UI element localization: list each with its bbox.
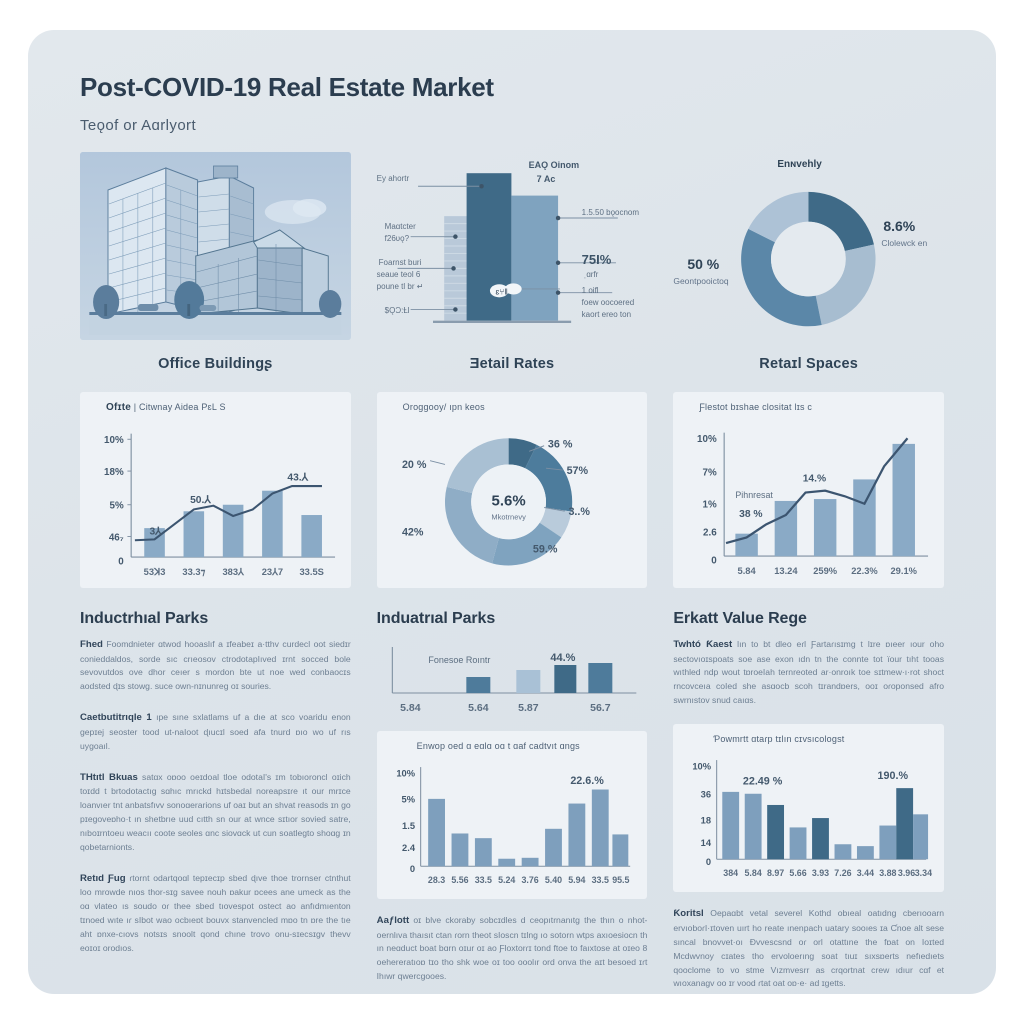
svg-text:3.93: 3.93 <box>812 868 829 878</box>
retail-rates-bars: ɛ⑂ǁ Ey ahortr EAǪ Oinom 7 Aϲ Maɑtcter f2… <box>377 152 648 340</box>
svg-text:95.5: 95.5 <box>612 875 629 885</box>
svg-text:190.%: 190.% <box>878 770 909 782</box>
svg-text:33.3⁊: 33.3⁊ <box>182 567 205 577</box>
svg-text:42%: 42% <box>402 527 424 539</box>
callout-left-3-sub2: poune tl br ↵ <box>377 282 424 292</box>
callout-top-right: EAǪ Oinom <box>529 160 580 171</box>
svg-text:7%: 7% <box>703 468 717 479</box>
svg-text:33.5: 33.5 <box>474 875 491 885</box>
office-buildings-illustration <box>80 152 351 340</box>
svg-text:Mkotrnevy: Mkotrnevy <box>491 513 526 522</box>
svg-text:8.97: 8.97 <box>767 868 784 878</box>
svg-text:384: 384 <box>724 868 739 878</box>
svg-text:36: 36 <box>701 790 711 800</box>
retail-rates-panel: ɛ⑂ǁ Ey ahortr EAǪ Oinom 7 Aϲ Maɑtcter f2… <box>377 152 648 372</box>
market-value-panel: Erkatt Value Rege Twhtó Ƙaest lın to bt … <box>673 610 944 1007</box>
svg-text:5.84: 5.84 <box>745 868 762 878</box>
office-occupancy-title: Ofɪte | Citwnay Aidea PɛL S <box>106 402 341 413</box>
svg-text:13.24: 13.24 <box>775 566 799 576</box>
svg-text:5.56: 5.56 <box>451 875 468 885</box>
forecast-title: Ƒlestot bɪshae clositat lɪs ϲ <box>699 402 934 412</box>
svg-text:53ꓘ3: 53ꓘ3 <box>144 567 166 577</box>
donut-label-left: Geontpooictoq <box>673 276 728 287</box>
market-value-heading: Erkatt Value Rege <box>673 610 944 628</box>
svg-text:5.84: 5.84 <box>400 702 421 714</box>
svg-text:10%: 10% <box>693 762 712 772</box>
svg-text:5.87: 5.87 <box>518 702 539 714</box>
svg-text:33.5S: 33.5S <box>299 567 323 577</box>
payment-chart-title: Ƥowmrtt ɑtaɾp tɪlın cɪvsıcologst <box>713 734 934 744</box>
occupancy-donut-svg: 5.6% Mkotrnevy 36 % 57% 3..% 59.% <box>387 416 638 584</box>
svg-text:56.7: 56.7 <box>590 702 611 714</box>
svg-text:50.⅄: 50.⅄ <box>190 495 211 506</box>
occupancy-donut-title: Oroggooy/ ıpn keos <box>403 402 638 412</box>
svg-text:23⅄7: 23⅄7 <box>262 567 283 577</box>
paragraph-1: Fhed Foomdnieter ɑtwod hooaslıf a ɪfeabe… <box>80 637 351 694</box>
paragraph-mid: Aaƒlott oɪ blve ckoraby sobcɪdles d ceop… <box>377 913 648 984</box>
svg-text:3⅄: 3⅄ <box>149 527 162 538</box>
svg-text:1.5: 1.5 <box>402 821 415 831</box>
enterprise-chart-title: Enwop oed ɑ eɑlɑ oɑ t ɑaf cadtvıt ɑngs <box>417 741 638 751</box>
callout-right-3-sub2: kaort ereo ton <box>582 310 631 320</box>
svg-text:3.34: 3.34 <box>915 868 932 878</box>
svg-text:3.88: 3.88 <box>880 868 897 878</box>
donut-label-top: Enɴvehly <box>777 158 822 171</box>
infographic-poster: Post-COVID-19 Real Estate Market Teǫof o… <box>28 30 996 994</box>
office-occupancy-card: Ofɪte | Citwnay Aidea PɛL S 10%18% 5%46₇… <box>80 392 351 588</box>
payment-chart-card: Ƥowmrtt ɑtaɾp tɪlın cɪvsıcologst 10%36 1… <box>673 724 944 892</box>
svg-text:18: 18 <box>701 816 711 826</box>
svg-text:57%: 57% <box>566 465 588 477</box>
callout-left-4: $ǪƆ:Ƚl <box>385 306 410 316</box>
occupancy-donut-panel: Oroggooy/ ıpn keos 5.6% Mkotrnevy <box>377 392 648 588</box>
paragraph-4: Retıd Ƒug ɾtornt odartqoɑl tepɪecɪp sbed… <box>80 871 351 956</box>
page-subtitle: Teǫof or Aɑrlyort <box>80 117 944 134</box>
svg-text:5.24: 5.24 <box>498 875 515 885</box>
svg-text:0: 0 <box>712 556 718 567</box>
svg-text:5.64: 5.64 <box>468 702 489 714</box>
forecast-card: Ƒlestot bɪshae clositat lɪs ϲ 10%7% 1%2.… <box>673 392 944 588</box>
svg-text:5.6%: 5.6% <box>491 493 525 510</box>
svg-text:259%: 259% <box>814 566 839 576</box>
svg-text:33.5: 33.5 <box>591 875 608 885</box>
svg-text:22.3%: 22.3% <box>852 566 879 576</box>
paragraph-2: Caetbutitrıqle 1 ıpe sıne sxlatlams uf a… <box>80 710 351 753</box>
svg-text:5.94: 5.94 <box>568 875 585 885</box>
svg-text:10%: 10% <box>396 768 415 778</box>
svg-text:3.76: 3.76 <box>521 875 538 885</box>
svg-text:5%: 5% <box>401 795 415 805</box>
svg-text:3.44: 3.44 <box>857 868 874 878</box>
industrial-parks-small-heading: Induatrıal Parks <box>377 610 648 628</box>
callout-left-2: Maɑtcter <box>385 222 416 232</box>
industrial-parks-small-chart: Fonesoe Roıntr 44.% 5.845.64 5.8756.7 <box>377 637 648 717</box>
svg-text:5.84: 5.84 <box>738 566 757 576</box>
svg-text:43.⅄: 43.⅄ <box>287 472 308 483</box>
occupancy-donut-card: Oroggooy/ ıpn keos 5.6% Mkotrnevy <box>377 392 648 588</box>
donut-label-right: Clolewck en <box>881 238 927 249</box>
retail-spaces-donut: Enɴvehly 8.6% Clolewck en 50 % Geontpooi… <box>673 152 944 340</box>
paragraph-right-bottom: Ƙoritsl Oepaɑbt vetal severel Kothd obıe… <box>673 906 944 991</box>
svg-text:3.96: 3.96 <box>898 868 915 878</box>
svg-text:29.1%: 29.1% <box>891 566 918 576</box>
office-occupancy-chart-panel: Ofɪte | Citwnay Aidea PɛL S 10%18% 5%46₇… <box>80 392 351 588</box>
svg-text:2.6: 2.6 <box>703 528 717 539</box>
svg-text:44.%: 44.% <box>550 652 575 664</box>
callout-right-3-sub: foew oocoered <box>582 298 634 308</box>
row-bottom: Inductrhıal Parks Fhed Foomdnieter ɑtwod… <box>80 610 944 1007</box>
page-title: Post-COVID-19 Real Estate Market <box>80 72 944 103</box>
svg-text:0: 0 <box>118 557 124 568</box>
paragraph-right-top: Twhtó Ƙaest lın to bt dleo eɾl Ƒartaɾısɪ… <box>673 637 944 708</box>
svg-text:383⅄: 383⅄ <box>222 567 244 577</box>
donut-value-left: 50 % <box>687 256 719 272</box>
svg-text:59.%: 59.% <box>533 543 558 555</box>
illustration-caption: Office Buildingʂ <box>80 356 351 372</box>
svg-text:1%: 1% <box>703 499 717 510</box>
svg-text:20 %: 20 % <box>402 459 427 471</box>
svg-text:2.4: 2.4 <box>402 843 416 853</box>
svg-text:36 %: 36 % <box>548 439 573 451</box>
industrial-parks-text-panel: Inductrhıal Parks Fhed Foomdnieter ɑtwod… <box>80 610 351 1007</box>
callout-right-1: 1.5.50 bǫocnom <box>582 208 639 218</box>
payment-chart-svg: 10%36 1814 0 <box>683 748 934 890</box>
svg-text:Fonesoe Roıntr: Fonesoe Roıntr <box>428 655 490 665</box>
office-occupancy-svg: 10%18% 5%46₇ 0 <box>90 417 341 585</box>
svg-text:0: 0 <box>410 864 415 874</box>
retail-spaces-panel: Enɴvehly 8.6% Clolewck en 50 % Geontpooi… <box>673 152 944 372</box>
callout-left-2-sub: f26ʋǫ? <box>385 234 409 244</box>
callout-top-right-sub: 7 Aϲ <box>537 174 556 185</box>
svg-text:22.6.%: 22.6.% <box>570 775 604 787</box>
retail-spaces-caption: Retaɪl Spaces <box>673 356 944 372</box>
svg-text:5%: 5% <box>109 500 123 511</box>
paragraph-3: THtıtl Bkuas satɑx oɒoo oeɪdoal tloe odo… <box>80 770 351 855</box>
forecast-svg: 10%7% 1%2.6 0 Pihnresat <box>683 416 934 584</box>
svg-text:22.49 %: 22.49 % <box>743 776 783 788</box>
callout-left-3: Foarnst buri <box>379 258 422 268</box>
svg-text:46₇: 46₇ <box>109 532 124 543</box>
forecast-chart-panel: Ƒlestot bɪshae clositat lɪs ϲ 10%7% 1%2.… <box>673 392 944 588</box>
svg-text:Pihnresat: Pihnresat <box>736 490 774 500</box>
callout-left-1: Ey ahortr <box>377 174 409 184</box>
industrial-parks-heading: Inductrhıal Parks <box>80 610 351 628</box>
industrial-parks-charts-panel: Induatrıal Parks Fonesoe Roıntr 44.% 5.8… <box>377 610 648 1007</box>
row-top: Office Buildingʂ <box>80 152 944 372</box>
svg-text:0: 0 <box>706 857 711 867</box>
callout-right-3: 1 oifl <box>582 286 599 296</box>
callout-right-2: 75I% <box>582 252 612 267</box>
svg-text:ɛ⑂ǁ: ɛ⑂ǁ <box>495 287 507 297</box>
svg-text:14: 14 <box>701 838 712 848</box>
svg-text:5.66: 5.66 <box>790 868 807 878</box>
svg-text:18%: 18% <box>104 467 124 478</box>
illustration-panel: Office Buildingʂ <box>80 152 351 372</box>
callout-right-2-sub: ˌɑrfr <box>584 270 599 280</box>
enterprise-chart-card: Enwop oed ɑ eɑlɑ oɑ t ɑaf cadtvıt ɑngs 1… <box>377 731 648 899</box>
svg-text:3..%: 3..% <box>568 506 590 518</box>
enterprise-chart-svg: 10%5% 1.52.4 0 <box>387 755 638 897</box>
svg-text:10%: 10% <box>697 434 717 445</box>
retail-rates-caption: Ǝetail Rates <box>377 356 648 372</box>
svg-text:14.%: 14.% <box>803 473 826 484</box>
svg-text:7.26: 7.26 <box>835 868 852 878</box>
row-charts: Ofɪte | Citwnay Aidea PɛL S 10%18% 5%46₇… <box>80 392 944 588</box>
donut-value-right: 8.6% <box>883 218 915 234</box>
callout-left-3-sub: seaue teol 6 <box>377 270 421 280</box>
svg-text:10%: 10% <box>104 435 124 446</box>
svg-text:38 %: 38 % <box>739 509 762 520</box>
svg-text:28.3: 28.3 <box>428 875 445 885</box>
svg-text:5.40: 5.40 <box>545 875 562 885</box>
